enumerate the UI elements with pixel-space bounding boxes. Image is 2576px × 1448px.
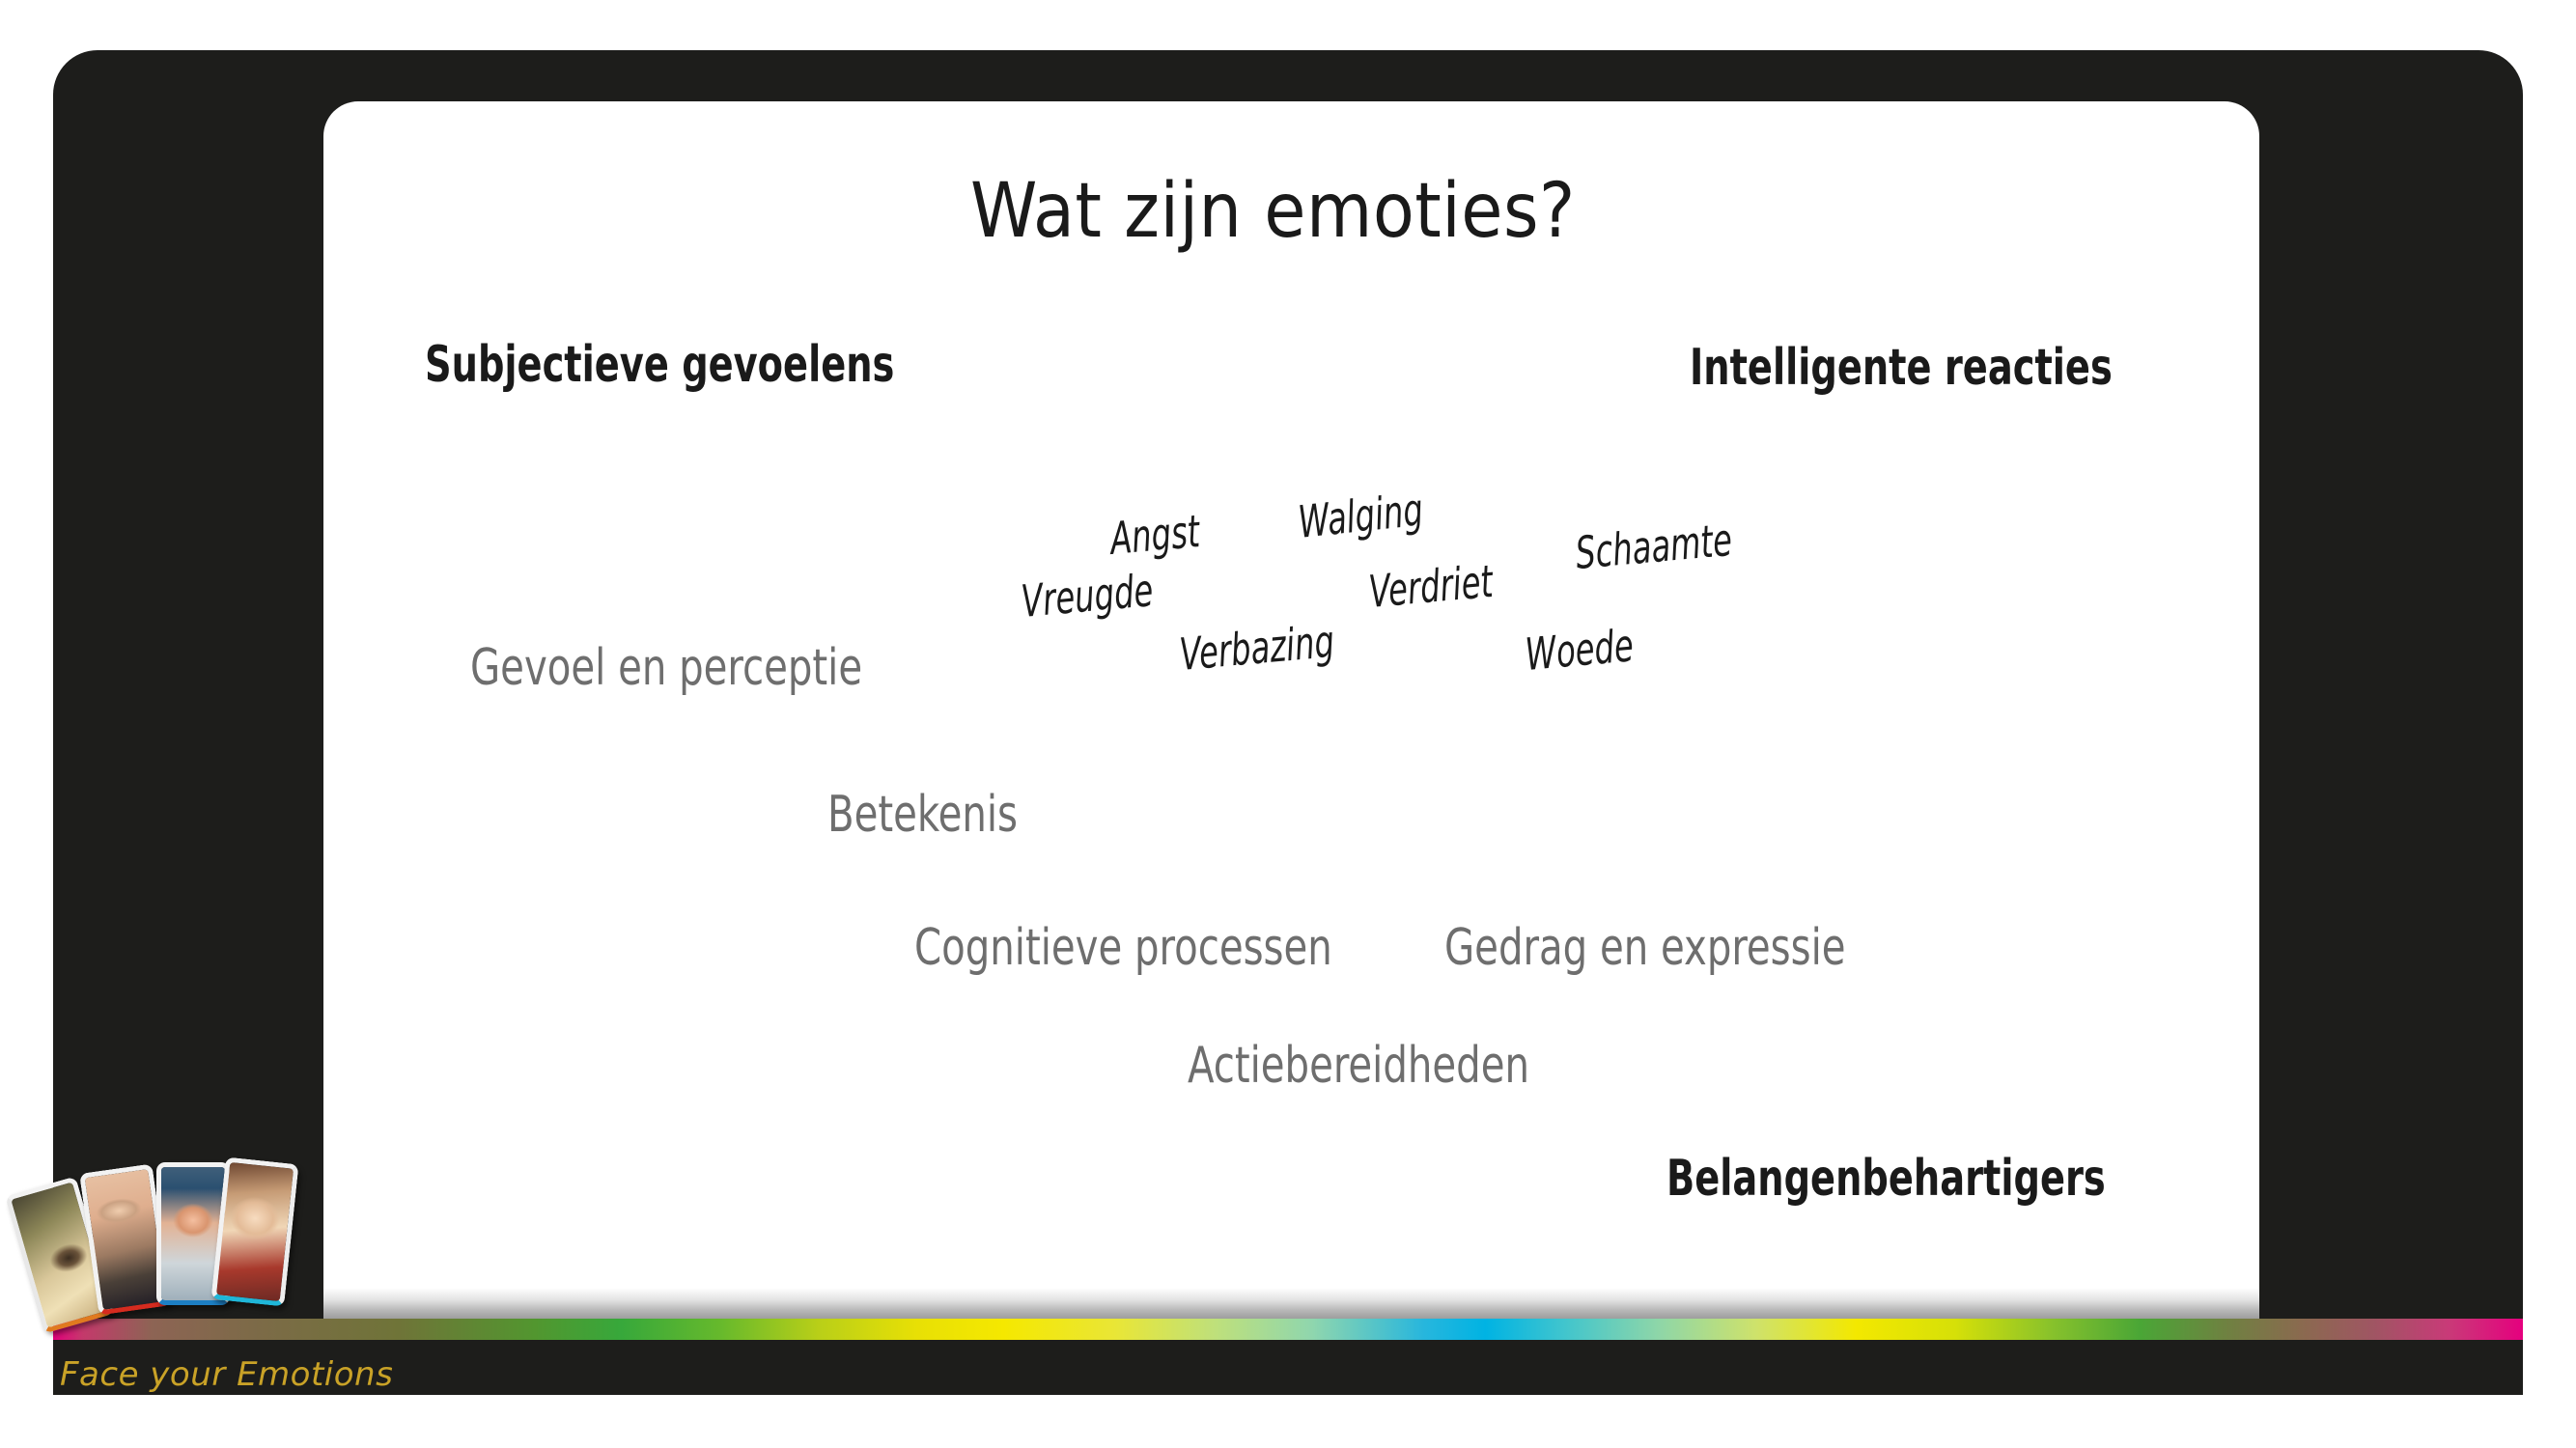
heading-subjective-feelings: Subjectieve gevoelens bbox=[425, 340, 894, 390]
component-label: Gedrag en expressie bbox=[1444, 923, 1846, 973]
emotion-word: Angst bbox=[1108, 509, 1201, 561]
component-label: Gevoel en perceptie bbox=[470, 643, 862, 693]
face-photo-2 bbox=[85, 1169, 167, 1310]
rainbow-color-bar bbox=[53, 1319, 2523, 1340]
brand-photo-cards bbox=[14, 1147, 361, 1330]
emotion-word: Vreugde bbox=[1020, 568, 1155, 624]
component-label: Actiebereidheden bbox=[1188, 1041, 1529, 1091]
slide-content-panel bbox=[323, 101, 2259, 1302]
photo-card-4 bbox=[210, 1156, 298, 1306]
heading-stakeholders: Belangenbehartigers bbox=[1666, 1154, 2106, 1204]
brand-tagline: Face your Emotions bbox=[60, 1355, 393, 1394]
footer-black-strip bbox=[53, 1340, 2523, 1395]
emotion-word: Walging bbox=[1297, 487, 1425, 544]
slide-title: Wat zijn emoties? bbox=[970, 174, 1576, 249]
component-label: Betekenis bbox=[827, 790, 1018, 840]
emotion-word: Verbazing bbox=[1178, 619, 1336, 677]
emotion-word: Verdriet bbox=[1367, 559, 1495, 614]
heading-intelligent-reactions: Intelligente reacties bbox=[1690, 343, 2113, 393]
grey-gradient-strip bbox=[323, 1279, 2259, 1320]
emotion-word: Woede bbox=[1524, 623, 1635, 677]
slide-root: Wat zijn emoties? Subjectieve gevoelens … bbox=[0, 0, 2576, 1448]
emotion-word: Schaamte bbox=[1574, 517, 1734, 575]
face-photo-4 bbox=[216, 1162, 294, 1301]
component-label: Cognitieve processen bbox=[914, 923, 1332, 973]
